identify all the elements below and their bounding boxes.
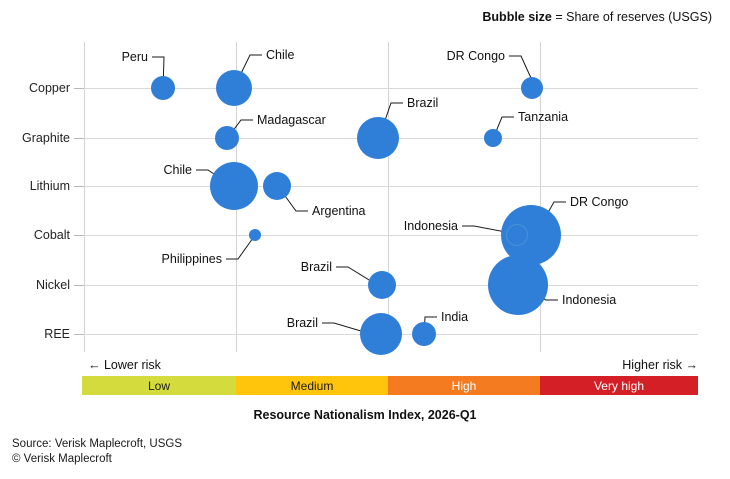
- x-axis-title: Resource Nationalism Index, 2026-Q1: [0, 408, 730, 422]
- y-axis-label-ree: REE: [44, 327, 70, 341]
- bubble-label-dr-congo-10: DR Congo: [570, 196, 628, 209]
- risk-band-high: High: [388, 376, 540, 395]
- bubble-label-india-14: India: [441, 311, 468, 324]
- bubble-brazil-ree[interactable]: [360, 313, 402, 355]
- y-axis-label-copper: Copper: [29, 81, 70, 95]
- bubble-indonesia-nickel[interactable]: [488, 255, 548, 315]
- y-axis-label-cobalt: Cobalt: [34, 228, 70, 242]
- risk-band-low: Low: [82, 376, 236, 395]
- y-tick-lithium: [74, 186, 84, 187]
- bubble-label-dr-congo-2: DR Congo: [447, 50, 505, 63]
- bubble-label-indonesia-9: Indonesia: [404, 220, 458, 233]
- bubble-philippines-cobalt[interactable]: [249, 229, 261, 241]
- bubble-label-peru-0: Peru: [122, 51, 148, 64]
- bubble-label-tanzania-5: Tanzania: [518, 111, 568, 124]
- bubble-label-indonesia-12: Indonesia: [562, 294, 616, 307]
- risk-band-medium: Medium: [236, 376, 388, 395]
- y-tick-cobalt: [74, 235, 84, 236]
- source-line: Source: Verisk Maplecroft, USGS: [12, 437, 182, 452]
- bubble-dr-congo-copper[interactable]: [521, 77, 543, 99]
- bubble-madagascar-graphite[interactable]: [215, 126, 239, 150]
- leader-line-8: [226, 238, 253, 259]
- bubble-indonesia-cobalt[interactable]: [506, 224, 528, 246]
- bubble-peru-copper[interactable]: [151, 76, 175, 100]
- bubble-chile-lithium[interactable]: [210, 162, 258, 210]
- bubble-argentina-lithium[interactable]: [263, 172, 291, 200]
- bubble-brazil-nickel[interactable]: [368, 271, 396, 299]
- bubble-chile-copper[interactable]: [216, 70, 252, 106]
- y-tick-graphite: [74, 138, 84, 139]
- y-tick-ree: [74, 334, 84, 335]
- y-axis-label-lithium: Lithium: [30, 179, 70, 193]
- bubble-brazil-graphite[interactable]: [357, 117, 399, 159]
- bubble-india-ree[interactable]: [412, 322, 436, 346]
- risk-band-colorbar: LowMediumHighVery high: [82, 376, 698, 395]
- horizontal-gridline-cobalt: [84, 235, 698, 236]
- chart-root: Bubble size = Share of reserves (USGS) C…: [0, 0, 730, 479]
- y-tick-copper: [74, 88, 84, 89]
- y-axis-label-nickel: Nickel: [36, 278, 70, 292]
- horizontal-gridline-copper: [84, 88, 698, 89]
- bubble-label-brazil-4: Brazil: [407, 97, 438, 110]
- bubble-label-chile-1: Chile: [266, 49, 295, 62]
- bubble-label-philippines-8: Philippines: [162, 253, 222, 266]
- higher-risk-label: Higher risk →: [622, 358, 698, 372]
- copyright-line: © Verisk Maplecroft: [12, 452, 182, 467]
- bubble-tanzania-graphite[interactable]: [484, 129, 502, 147]
- bubble-label-brazil-13: Brazil: [287, 317, 318, 330]
- bubble-label-brazil-11: Brazil: [301, 261, 332, 274]
- y-tick-nickel: [74, 285, 84, 286]
- lower-risk-label: ← Lower risk: [88, 358, 161, 372]
- bubble-label-argentina-7: Argentina: [312, 205, 366, 218]
- bubble-label-chile-6: Chile: [164, 164, 193, 177]
- leader-line-2: [509, 56, 531, 78]
- risk-band-very-high: Very high: [540, 376, 698, 395]
- footer-source: Source: Verisk Maplecroft, USGS © Verisk…: [12, 437, 182, 467]
- bubble-label-madagascar-3: Madagascar: [257, 114, 326, 127]
- horizontal-gridline-lithium: [84, 186, 698, 187]
- y-axis-label-graphite: Graphite: [22, 131, 70, 145]
